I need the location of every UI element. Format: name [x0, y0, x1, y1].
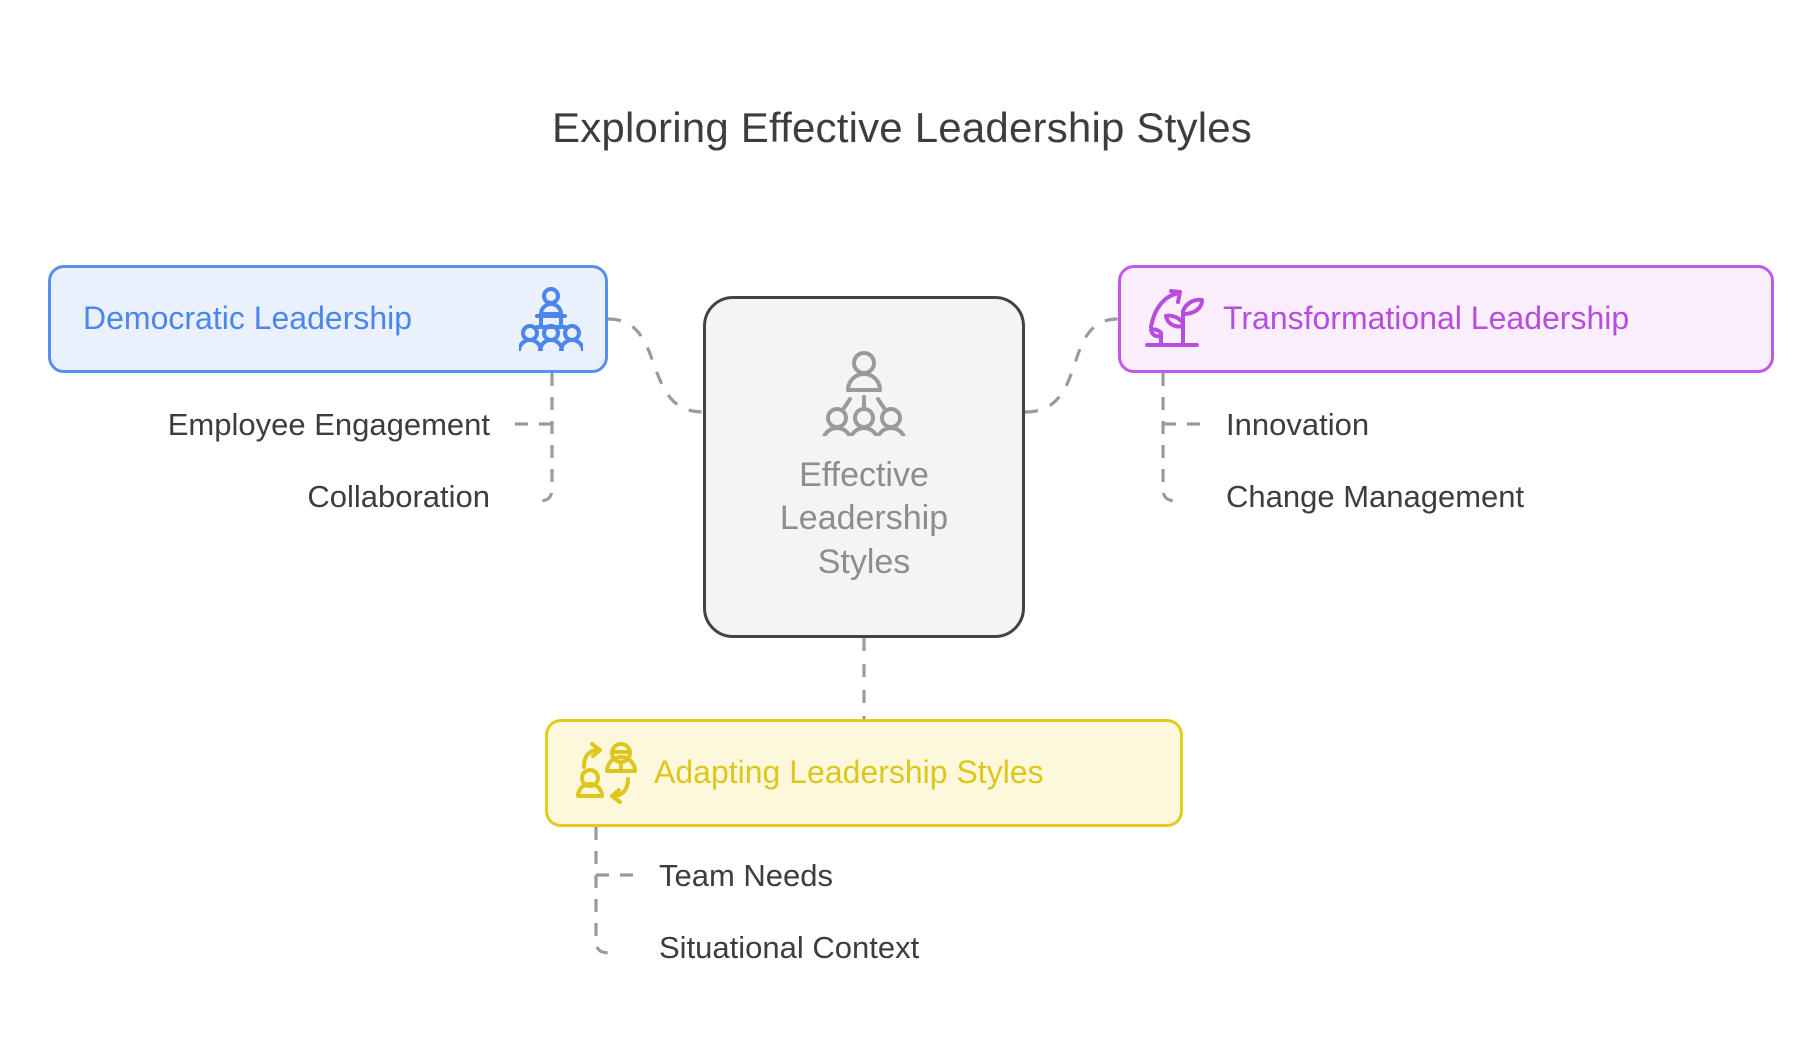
connector-center-democratic [608, 319, 703, 412]
leaf-collaboration: Collaboration [0, 481, 490, 512]
connector-center-transformational [1025, 319, 1118, 412]
connector-adapting-spine [596, 827, 613, 953]
central-node-label: Effective Leadership Styles [780, 454, 948, 585]
page-title: Exploring Effective Leadership Styles [0, 104, 1804, 152]
growth-plant-arrow-icon [1145, 287, 1209, 351]
node-transformational-leadership[interactable]: Transformational Leadership [1118, 265, 1774, 373]
node-democratic-leadership[interactable]: Democratic Leadership [48, 265, 608, 373]
leaf-innovation: Innovation [1226, 409, 1369, 440]
node-adapting-leadership-styles[interactable]: Adapting Leadership Styles [545, 719, 1183, 827]
node-democratic-label: Democratic Leadership [83, 301, 412, 336]
diagram-canvas: Exploring Effective Leadership Styles [0, 0, 1804, 1060]
central-node[interactable]: Effective Leadership Styles [703, 296, 1025, 638]
connector-democratic-spine [536, 373, 552, 501]
presentation-audience-icon [519, 287, 583, 351]
leaf-change-management: Change Management [1226, 481, 1524, 512]
node-transformational-label: Transformational Leadership [1223, 301, 1629, 336]
adapt-people-arrows-icon [576, 741, 640, 805]
connector-transformational-spine [1163, 373, 1180, 501]
leaf-situational-context: Situational Context [659, 932, 919, 963]
leadership-team-icon [821, 350, 907, 436]
leaf-employee-engagement: Employee Engagement [0, 409, 490, 440]
leaf-team-needs: Team Needs [659, 860, 833, 891]
node-adapting-label: Adapting Leadership Styles [654, 755, 1044, 790]
